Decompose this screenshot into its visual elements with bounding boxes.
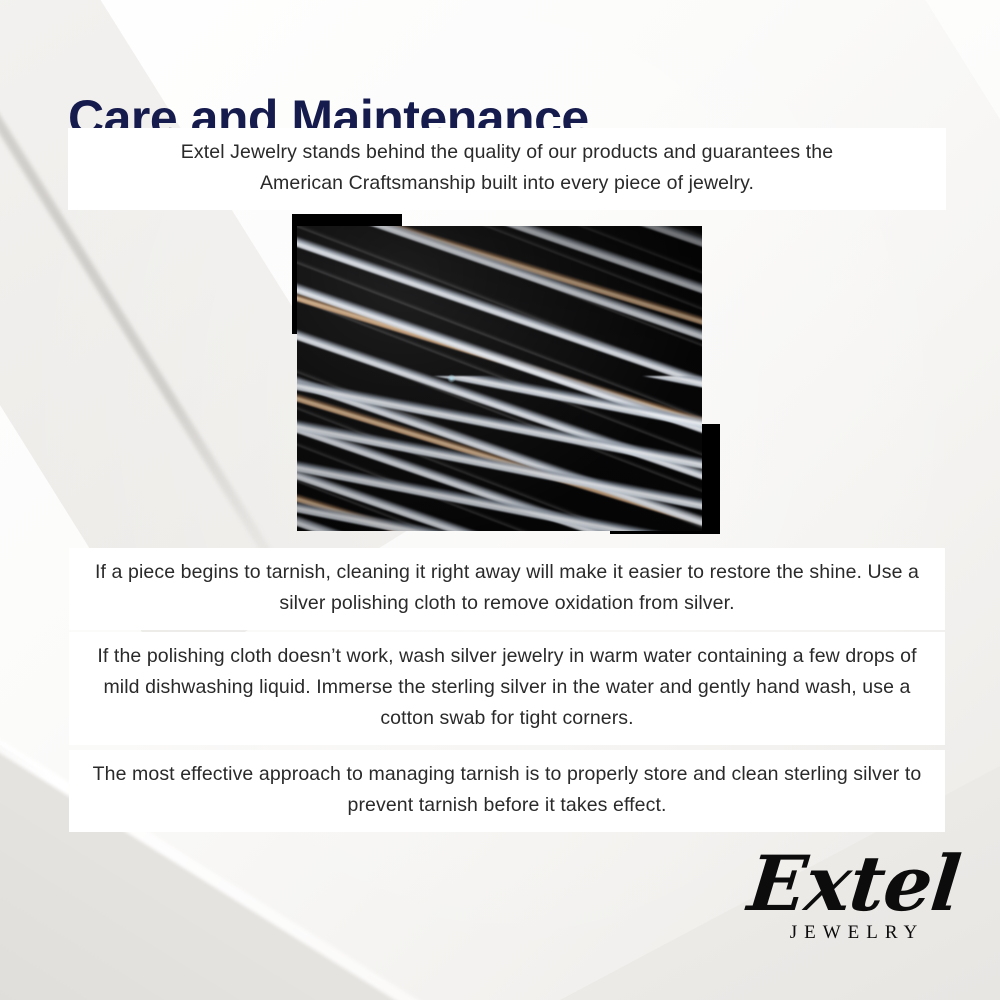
care-and-maintenance-poster: Care and Maintenance Extel Jewelry stand… (0, 0, 1000, 1000)
intro-line-1: Extel Jewelry stands behind the quality … (82, 137, 932, 168)
intro-line-2: American Craftsmanship built into every … (82, 168, 932, 199)
tip-text: The most effective approach to managing … (79, 759, 935, 821)
intro-text-band: Extel Jewelry stands behind the quality … (68, 128, 946, 210)
tip-text: If the polishing cloth doesn’t work, was… (79, 641, 935, 734)
tip-band-prevention: The most effective approach to managing … (69, 750, 945, 832)
chain-photo-shading (297, 226, 702, 531)
tip-band-tarnish-cleaning: If a piece begins to tarnish, cleaning i… (69, 548, 945, 630)
extel-jewelry-logo: Extel JEWELRY (748, 842, 960, 964)
chain-photo-block (292, 214, 720, 534)
tip-text: If a piece begins to tarnish, cleaning i… (79, 557, 935, 619)
chain-photo (297, 226, 702, 531)
tip-band-washing: If the polishing cloth doesn’t work, was… (69, 632, 945, 745)
poster-content: Care and Maintenance Extel Jewelry stand… (0, 0, 1000, 1000)
logo-wordmark: Extel (744, 842, 965, 926)
